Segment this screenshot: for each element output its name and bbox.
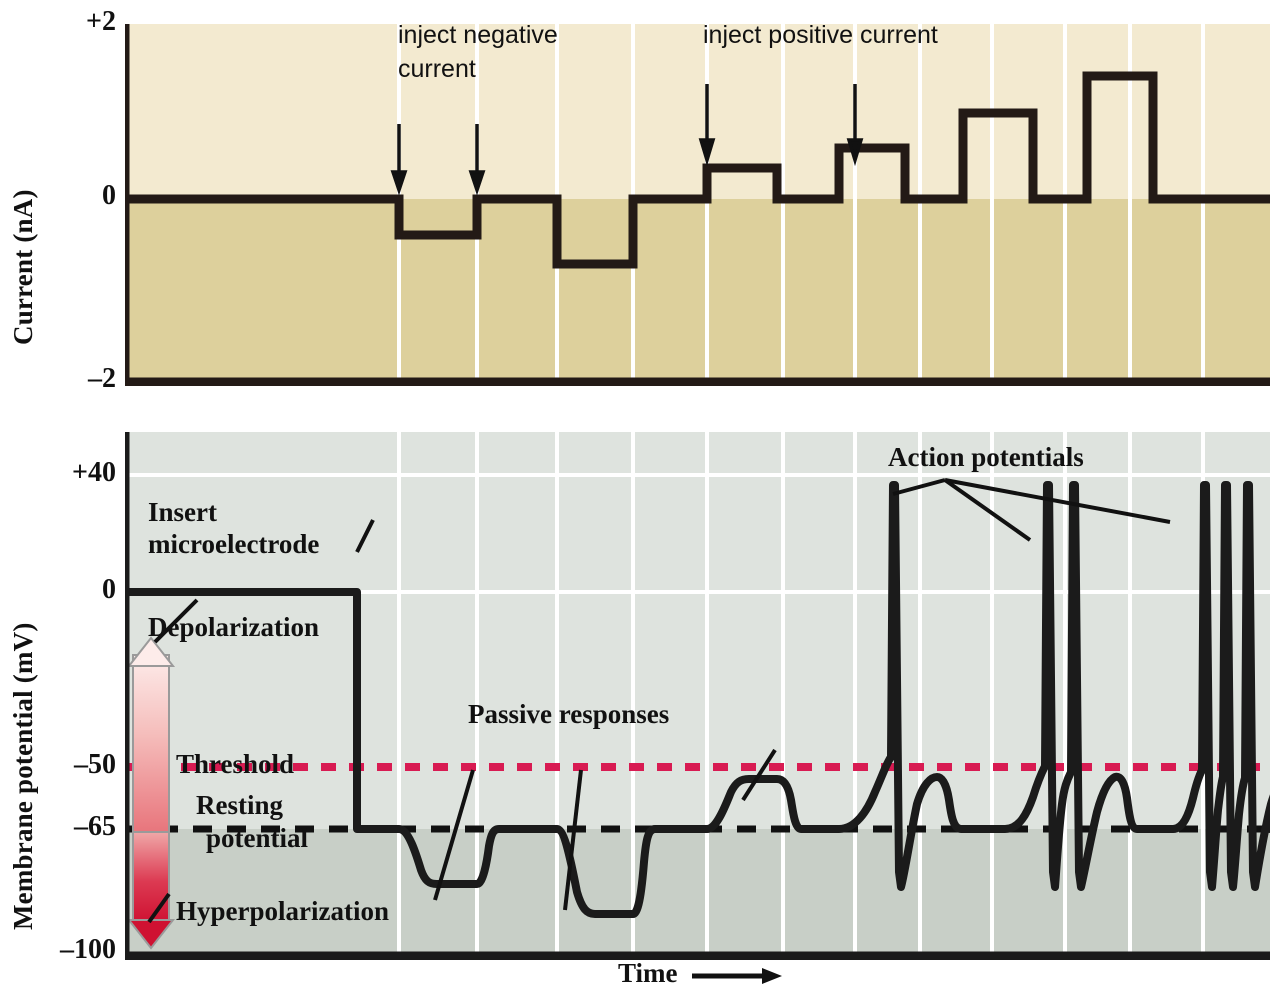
resting-potential-label-line1: Resting [196, 791, 283, 820]
threshold-label: Threshold [176, 750, 294, 779]
membrane-potential-svg [125, 432, 1270, 960]
bottom-tick-plus40: +40 [18, 457, 116, 489]
top-tick-minus2: –2 [40, 363, 116, 395]
current-injection-plot [125, 24, 1270, 386]
current-injection-svg [125, 24, 1270, 386]
top-above-zero-fill [125, 24, 1270, 199]
inject-negative-current-label-line2: current [398, 56, 476, 83]
time-axis-label: Time [618, 958, 782, 989]
time-arrow-icon [692, 966, 782, 986]
top-tick-plus2: +2 [48, 6, 116, 38]
insert-microelectrode-label-line1: Insert [148, 498, 217, 527]
passive-responses-label: Passive responses [468, 700, 669, 729]
inject-positive-current-label: inject positive current [703, 22, 938, 49]
figure-root: Current (nA) +2 0 –2 [0, 0, 1278, 998]
bottom-tick-minus65: –65 [18, 811, 116, 843]
time-axis-text: Time [618, 958, 678, 988]
bottom-tick-minus100: –100 [8, 934, 116, 966]
bottom-tick-zero: 0 [18, 574, 116, 606]
insert-microelectrode-label-line2: microelectrode [148, 530, 319, 559]
top-panel-y-axis-label: Current (nA) [8, 95, 39, 345]
membrane-potential-plot [125, 432, 1270, 960]
inject-negative-current-label-line1: inject negative [398, 22, 558, 49]
depolarization-label: Depolarization [148, 613, 319, 642]
top-below-zero-fill [125, 199, 1270, 386]
depolarization-arrow [129, 638, 173, 832]
top-tick-zero: 0 [48, 180, 116, 212]
bottom-tick-minus50: –50 [18, 749, 116, 781]
resting-potential-label-line2: potential [206, 824, 308, 853]
action-potentials-label: Action potentials [888, 443, 1084, 472]
hyperpolarization-label: Hyperpolarization [176, 897, 389, 926]
